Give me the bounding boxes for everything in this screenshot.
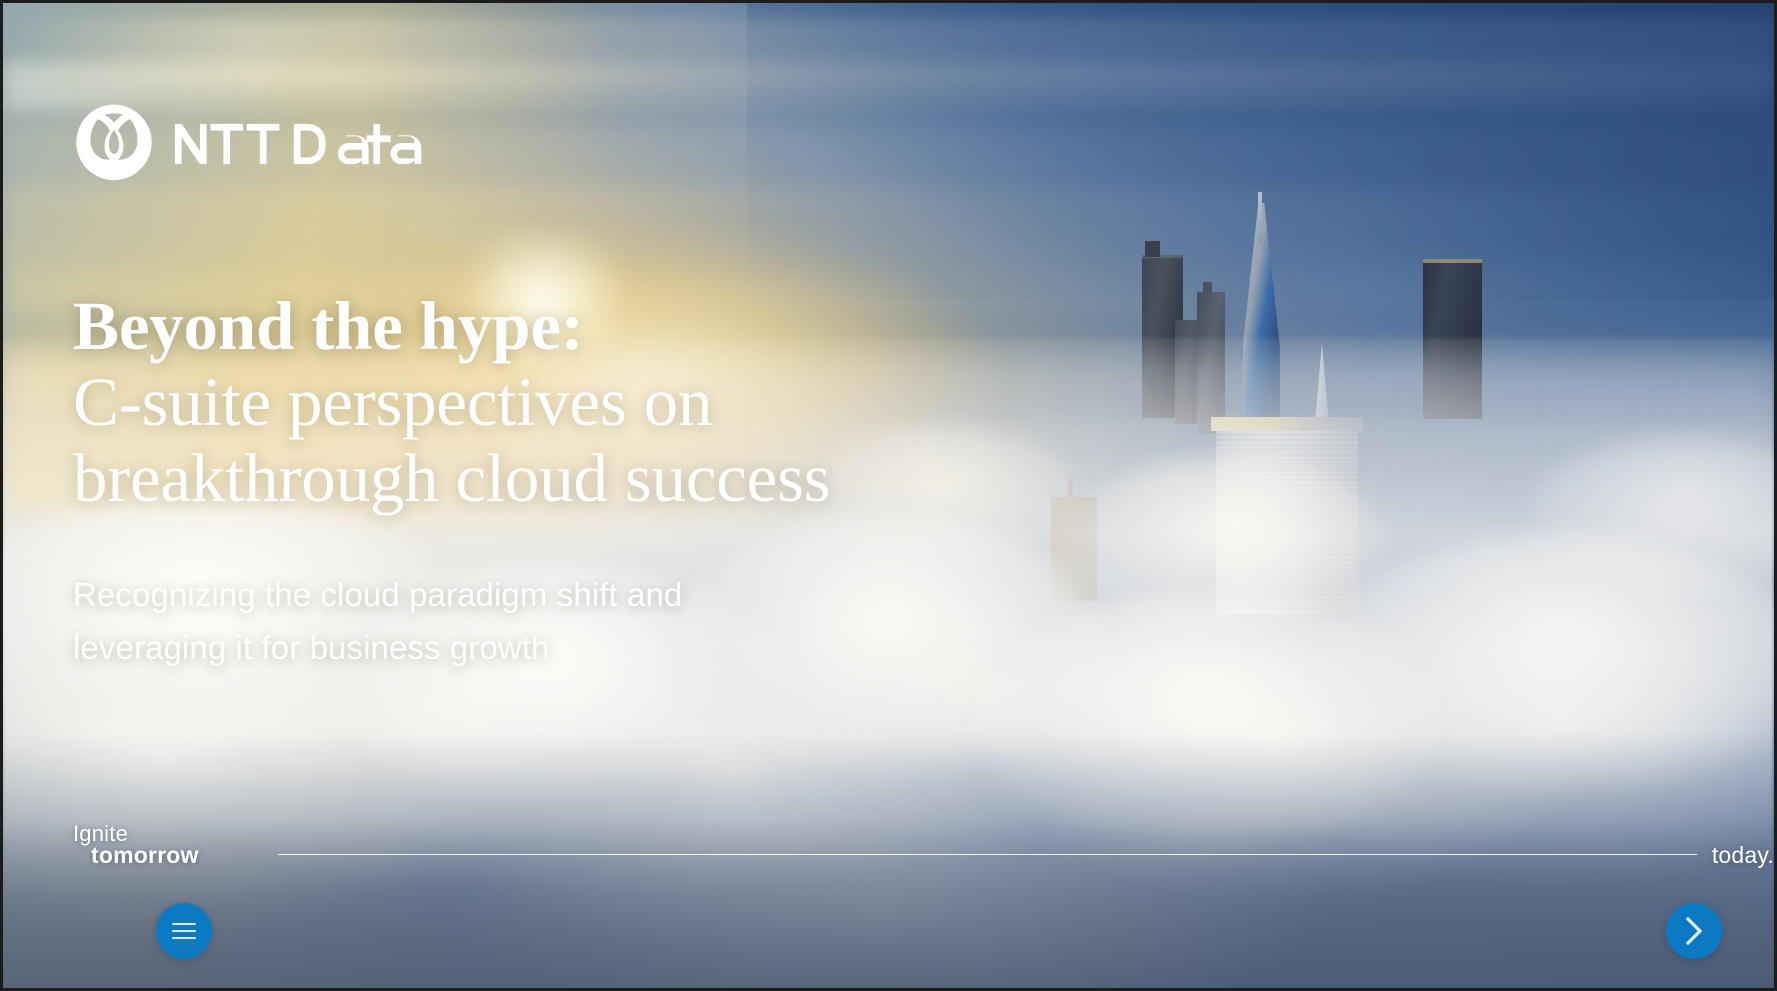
headline-line-2: C-suite perspectives on <box>73 364 830 440</box>
subhead-line-1: Recognizing the cloud paradigm shift and <box>73 568 682 621</box>
chevron-right-icon <box>1685 917 1703 945</box>
page-title: Beyond the hype: C-suite perspectives on… <box>73 288 830 517</box>
menu-button[interactable] <box>156 903 212 959</box>
hamburger-menu-icon <box>172 923 196 939</box>
next-slide-button[interactable] <box>1666 903 1722 959</box>
brand-logo <box>73 103 443 185</box>
headline-line-3: breakthrough cloud success <box>73 440 830 516</box>
ntt-data-wordmark <box>175 121 443 167</box>
hero-slide: Beyond the hype: C-suite perspectives on… <box>0 0 1777 991</box>
tagline-rule <box>278 854 1697 855</box>
content-layer: Beyond the hype: C-suite perspectives on… <box>3 3 1774 988</box>
ntt-data-circle-teardrop-icon <box>73 103 155 185</box>
page-subtitle: Recognizing the cloud paradigm shift and… <box>73 568 682 675</box>
tagline-today: today. <box>1697 842 1774 869</box>
brand-tagline: Ignite tomorrow today. <box>73 821 1774 865</box>
headline-line-1: Beyond the hype: <box>73 288 830 364</box>
tagline-tomorrow: tomorrow <box>91 842 199 869</box>
subhead-line-2: leveraging it for business growth <box>73 621 682 674</box>
